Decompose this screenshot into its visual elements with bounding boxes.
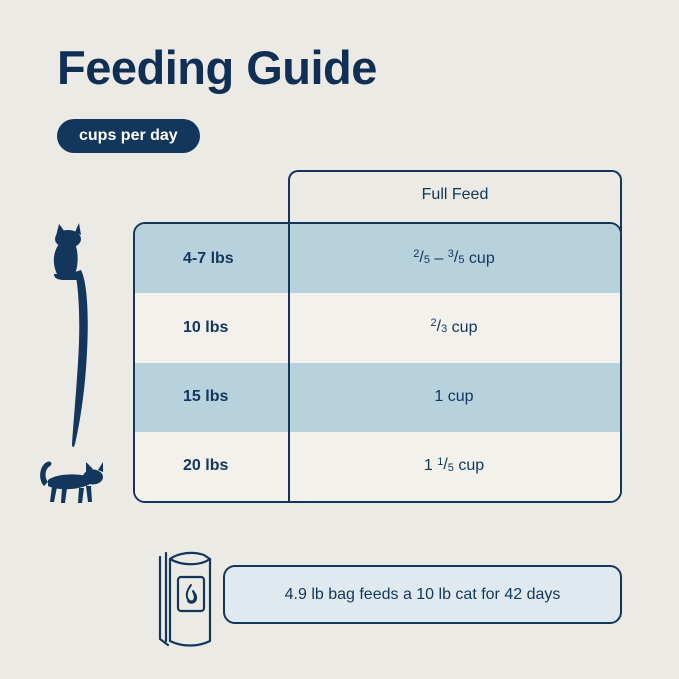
frac-denominator: 5 [424,255,430,266]
cat-sitting-icon [45,222,105,467]
frac-denominator: 3 [441,324,447,335]
frac-numerator: 2 [431,318,437,329]
row-amount: 1 1/5 cup [288,432,620,501]
table-header-label: Full Feed [290,186,620,204]
amount-whole: 1 [424,457,437,475]
bag-feeding-note-text: 4.9 lb bag feeds a 10 lb cat for 42 days [285,586,561,604]
food-bag-icon [148,543,230,658]
row-weight: 15 lbs [135,363,288,432]
row-weight: 10 lbs [135,293,288,362]
amount-dash: – [430,250,448,268]
fraction-two-thirds: 2/3 [431,318,448,336]
frac-numerator: 2 [413,249,419,260]
frac-denominator: 5 [448,463,454,474]
row-amount: 1 cup [288,363,620,432]
frac-numerator-2: 3 [448,249,454,260]
amount-unit: cup [447,319,477,337]
table-row: 15 lbs 1 cup [135,363,620,432]
fraction-one-fifth: 1/5 [437,456,454,474]
page-title: Feeding Guide [57,44,377,91]
table-row: 20 lbs 1 1/5 cup [135,432,620,501]
frac-numerator: 1 [437,457,443,468]
fraction-three-fifths: 3/5 [448,249,465,267]
row-weight: 4-7 lbs [135,224,288,293]
cups-per-day-badge: cups per day [57,119,200,153]
frac-denominator-2: 5 [458,255,464,266]
cups-per-day-label: cups per day [79,127,178,145]
feeding-table: 4-7 lbs 2/5 – 3/5 cup 10 lbs 2/3 cup 15 … [133,222,622,503]
bag-feeding-note: 4.9 lb bag feeds a 10 lb cat for 42 days [223,565,622,624]
row-amount: 2/3 cup [288,293,620,362]
row-amount: 2/5 – 3/5 cup [288,224,620,293]
fraction-two-fifths: 2/5 [413,249,430,267]
amount-unit: cup [464,250,494,268]
table-row: 10 lbs 2/3 cup [135,293,620,362]
row-weight: 20 lbs [135,432,288,501]
table-column-divider [288,224,290,501]
amount-unit: cup [454,457,484,475]
feeding-guide-page: Feeding Guide cups per day [0,0,679,679]
table-row: 4-7 lbs 2/5 – 3/5 cup [135,224,620,293]
cat-walking-icon [36,450,111,515]
